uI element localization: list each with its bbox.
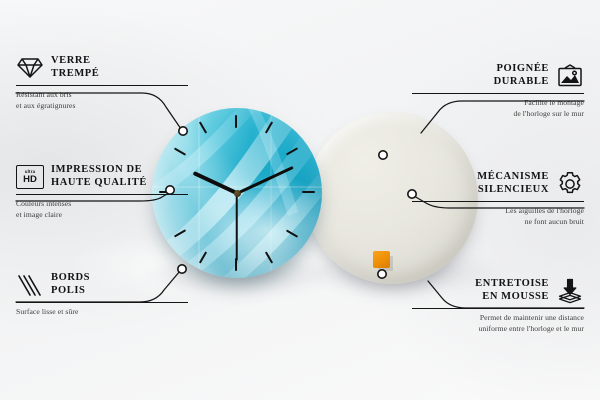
feature-title-line1: BORDS [51, 272, 90, 285]
feature-sub-line1: Facilite le montage [412, 98, 584, 109]
feature-poignee-durable[interactable]: POIGNÉE DURABLE Facilite le montage de l… [412, 62, 584, 120]
feature-title-line1: ENTRETOISE [475, 278, 549, 291]
polished-edges-icon [16, 271, 44, 299]
feature-subtitle: Surface lisse et sûre [16, 307, 188, 318]
feature-rule [16, 85, 188, 86]
gear-icon [556, 170, 584, 198]
feature-subtitle: Les aiguilles de l'horloge ne font aucun… [412, 206, 584, 228]
feature-title: IMPRESSION DE HAUTE QUALITÉ [51, 164, 147, 190]
feature-header: VERRE TREMPÉ [16, 54, 188, 82]
feature-title-line2: TREMPÉ [51, 68, 99, 81]
feature-verre-trempe[interactable]: VERRE TREMPÉ Résistant aux bris et aux é… [16, 54, 188, 112]
feature-sub-line1: Résistant aux bris [16, 90, 188, 101]
feature-title-line2: SILENCIEUX [477, 184, 549, 197]
feature-sub-line2: de l'horloge sur le mur [412, 109, 584, 120]
feature-sub-line2: et image claire [16, 210, 188, 221]
diamond-icon [16, 54, 44, 82]
feature-title-line2: POLIS [51, 285, 90, 298]
ultra-hd-large-label: HD [23, 175, 37, 185]
feature-title-line1: VERRE [51, 55, 99, 68]
feature-rule [412, 308, 584, 309]
foam-spacer-arrow-icon [556, 277, 584, 305]
feature-sub-line2: et aux égratignures [16, 101, 188, 112]
connector-dot-entretoise [378, 270, 386, 278]
connector-dot-poignee [379, 151, 387, 159]
feature-rule [16, 194, 188, 195]
feature-impression-haute-qualite[interactable]: ultra HD IMPRESSION DE HAUTE QUALITÉ Cou… [16, 163, 188, 221]
feature-sub-line2: uniforme entre l'horloge et le mur [412, 324, 584, 335]
feature-entretoise-en-mousse[interactable]: ENTRETOISE EN MOUSSE Permet de maintenir… [412, 277, 584, 335]
feature-subtitle: Facilite le montage de l'horloge sur le … [412, 98, 584, 120]
ultra-hd-icon: ultra HD [16, 163, 44, 191]
wall-hanger-frame-icon [556, 62, 584, 90]
feature-rule [16, 302, 188, 303]
feature-header: ultra HD IMPRESSION DE HAUTE QUALITÉ [16, 163, 188, 191]
feature-title-line2: EN MOUSSE [475, 291, 549, 304]
feature-title-line1: IMPRESSION DE [51, 164, 147, 177]
feature-title: POIGNÉE DURABLE [494, 63, 549, 89]
feature-sub-line1: Permet de maintenir une distance [412, 313, 584, 324]
feature-header: POIGNÉE DURABLE [412, 62, 584, 90]
feature-title-line2: DURABLE [494, 76, 549, 89]
feature-subtitle: Couleurs intenses et image claire [16, 199, 188, 221]
feature-header: MÉCANISME SILENCIEUX [412, 170, 584, 198]
feature-mecanisme-silencieux[interactable]: MÉCANISME SILENCIEUX Les aiguilles de l'… [412, 170, 584, 228]
feature-title-line2: HAUTE QUALITÉ [51, 177, 147, 190]
feature-title: ENTRETOISE EN MOUSSE [475, 278, 549, 304]
feature-title: MÉCANISME SILENCIEUX [477, 171, 549, 197]
feature-subtitle: Permet de maintenir une distance uniform… [412, 313, 584, 335]
feature-sub-line1: Couleurs intenses [16, 199, 188, 210]
feature-sub-line1: Surface lisse et sûre [16, 307, 188, 318]
feature-bords-polis[interactable]: BORDS POLIS Surface lisse et sûre [16, 271, 188, 318]
feature-title-line1: POIGNÉE [494, 63, 549, 76]
feature-header: ENTRETOISE EN MOUSSE [412, 277, 584, 305]
feature-sub-line2: ne font aucun bruit [412, 217, 584, 228]
feature-title: VERRE TREMPÉ [51, 55, 99, 81]
feature-sub-line1: Les aiguilles de l'horloge [412, 206, 584, 217]
feature-subtitle: Résistant aux bris et aux égratignures [16, 90, 188, 112]
feature-rule [412, 93, 584, 94]
feature-header: BORDS POLIS [16, 271, 188, 299]
feature-title: BORDS POLIS [51, 272, 90, 298]
feature-rule [412, 201, 584, 202]
infographic-canvas: VERRE TREMPÉ Résistant aux bris et aux é… [0, 0, 600, 400]
feature-title-line1: MÉCANISME [477, 171, 549, 184]
connector-dot-verre-trempe [179, 127, 187, 135]
